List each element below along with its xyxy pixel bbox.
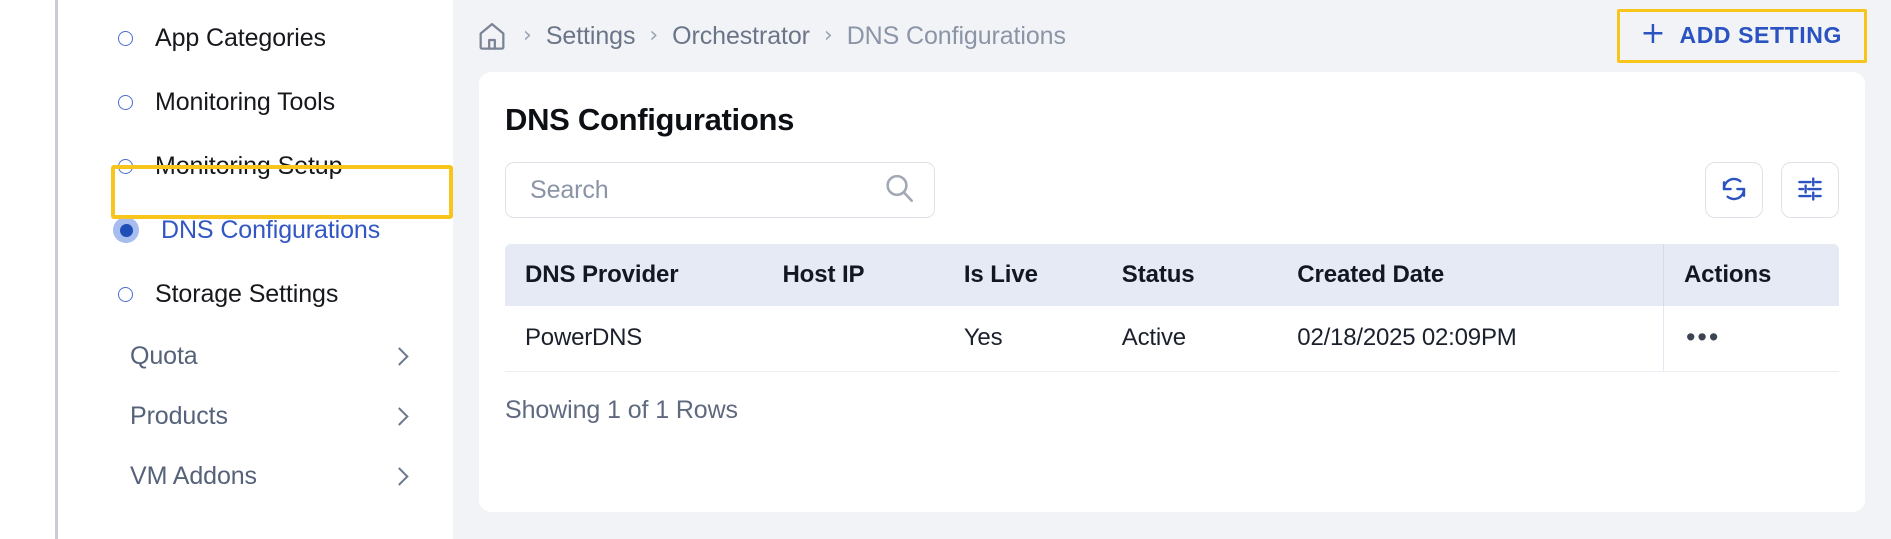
table-body: PowerDNS Yes Active 02/18/2025 02:09PM •… [505, 306, 1839, 372]
radio-selected-icon [113, 217, 139, 243]
column-header-status[interactable]: Status [1102, 244, 1278, 306]
refresh-button[interactable] [1705, 162, 1763, 218]
row-actions-menu-button[interactable]: ••• [1663, 306, 1839, 372]
column-header-created-date[interactable]: Created Date [1277, 244, 1663, 306]
add-setting-button[interactable]: + ADD SETTING [1617, 9, 1867, 63]
page-title: DNS Configurations [505, 102, 1839, 138]
chevron-right-icon [391, 468, 407, 484]
table-toolbar [505, 162, 1839, 218]
column-header-actions: Actions [1663, 244, 1839, 306]
breadcrumb-separator: › [523, 25, 532, 47]
search-input[interactable] [530, 176, 882, 205]
sidebar-group-vm-addons[interactable]: VM Addons [58, 446, 453, 506]
sidebar-item-storage-settings[interactable]: Storage Settings [58, 262, 453, 326]
sidebar-item-app-categories[interactable]: App Categories [58, 6, 453, 70]
radio-icon [118, 31, 133, 46]
cell-is-live: Yes [944, 306, 1102, 372]
refresh-icon [1719, 174, 1749, 207]
breadcrumb-item-orchestrator[interactable]: Orchestrator [672, 22, 810, 51]
card-wrapper: DNS Configurations [453, 72, 1891, 512]
table-header-row: DNS Provider Host IP Is Live Status Crea… [505, 244, 1839, 306]
app-root: App Categories Monitoring Tools Monitori… [0, 0, 1891, 539]
table-head: DNS Provider Host IP Is Live Status Crea… [505, 244, 1839, 306]
left-rail [0, 0, 58, 539]
chevron-right-icon [391, 408, 407, 424]
dns-configurations-table: DNS Provider Host IP Is Live Status Crea… [505, 244, 1839, 372]
sidebar-item-label: Monitoring Setup [155, 152, 342, 181]
rows-summary: Showing 1 of 1 Rows [505, 396, 1839, 425]
search-box[interactable] [505, 162, 935, 218]
cell-status: Active [1102, 306, 1278, 372]
cell-dns-provider: PowerDNS [505, 306, 762, 372]
chevron-right-icon [391, 348, 407, 364]
column-header-host-ip[interactable]: Host IP [762, 244, 943, 306]
search-icon[interactable] [882, 171, 916, 210]
cell-host-ip [762, 306, 943, 372]
cell-created-date: 02/18/2025 02:09PM [1277, 306, 1663, 372]
breadcrumb-separator: › [824, 25, 833, 47]
filter-sliders-icon [1795, 174, 1825, 207]
sidebar-group-label: VM Addons [130, 462, 257, 491]
sidebar-item-label: DNS Configurations [161, 216, 380, 245]
sidebar-item-dns-configurations[interactable]: DNS Configurations [58, 198, 453, 262]
main-content: › Settings › Orchestrator › DNS Configur… [453, 0, 1891, 539]
radio-icon [118, 287, 133, 302]
sidebar-item-label: Storage Settings [155, 280, 338, 309]
plus-icon: + [1640, 19, 1665, 49]
radio-icon [118, 95, 133, 110]
sidebar-group-label: Quota [130, 342, 198, 371]
add-setting-label: ADD SETTING [1680, 22, 1843, 49]
sidebar-item-monitoring-setup[interactable]: Monitoring Setup [58, 134, 453, 198]
sidebar-item-label: Monitoring Tools [155, 88, 335, 117]
table-row[interactable]: PowerDNS Yes Active 02/18/2025 02:09PM •… [505, 306, 1839, 372]
sidebar-item-label: App Categories [155, 24, 326, 53]
breadcrumb-item-dns-configurations: DNS Configurations [847, 22, 1066, 51]
sidebar: App Categories Monitoring Tools Monitori… [58, 0, 453, 539]
filter-button[interactable] [1781, 162, 1839, 218]
breadcrumb: › Settings › Orchestrator › DNS Configur… [475, 19, 1066, 53]
sidebar-item-monitoring-tools[interactable]: Monitoring Tools [58, 70, 453, 134]
radio-icon [118, 159, 133, 174]
breadcrumb-separator: › [649, 25, 658, 47]
home-icon[interactable] [475, 19, 509, 53]
column-header-dns-provider[interactable]: DNS Provider [505, 244, 762, 306]
breadcrumb-item-settings[interactable]: Settings [546, 22, 636, 51]
sidebar-group-label: Products [130, 402, 228, 431]
dns-configurations-card: DNS Configurations [479, 72, 1865, 512]
toolbar-actions [1705, 162, 1839, 218]
column-header-is-live[interactable]: Is Live [944, 244, 1102, 306]
table-container: DNS Provider Host IP Is Live Status Crea… [505, 244, 1839, 372]
sidebar-group-quota[interactable]: Quota [58, 326, 453, 386]
top-bar: › Settings › Orchestrator › DNS Configur… [453, 0, 1891, 72]
sidebar-group-products[interactable]: Products [58, 386, 453, 446]
